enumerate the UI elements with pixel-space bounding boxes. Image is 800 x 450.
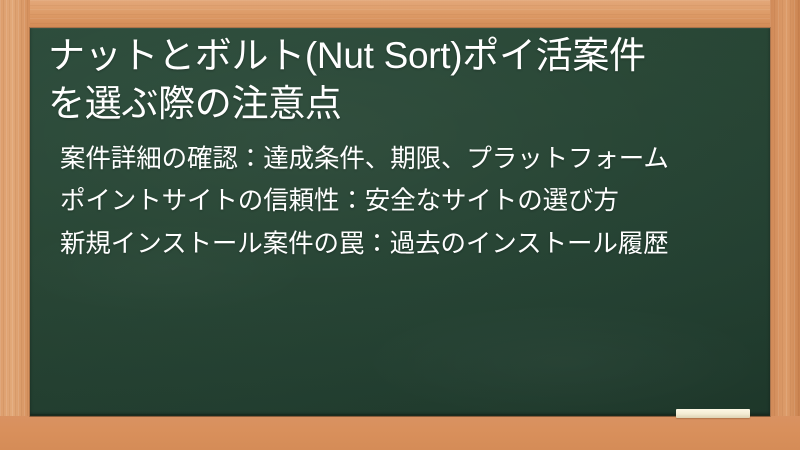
list-item: 新規インストール案件の罠：過去のインストール履歴	[48, 227, 746, 262]
frame-right-rail	[770, 0, 800, 450]
chalkboard-content: ナットとボルト(Nut Sort)ポイ活案件 を選ぶ際の注意点 案件詳細の確認：…	[30, 28, 770, 262]
blackboard-slide: ナットとボルト(Nut Sort)ポイ活案件 を選ぶ際の注意点 案件詳細の確認：…	[0, 0, 800, 450]
chalkboard: ナットとボルト(Nut Sort)ポイ活案件 を選ぶ際の注意点 案件詳細の確認：…	[30, 28, 770, 416]
list-item: 案件詳細の確認：達成条件、期限、プラットフォーム	[48, 142, 746, 177]
slide-title: ナットとボルト(Nut Sort)ポイ活案件 を選ぶ際の注意点	[48, 32, 746, 128]
chalkboard-bottom-shadow	[30, 414, 770, 417]
bullet-list: 案件詳細の確認：達成条件、期限、プラットフォーム ポイントサイトの信頼性：安全な…	[48, 142, 746, 262]
frame-bottom-rail	[0, 416, 800, 450]
list-item: ポイントサイトの信頼性：安全なサイトの選び方	[48, 184, 746, 219]
frame-top-rail	[0, 0, 800, 28]
chalk-stick-icon	[676, 409, 750, 418]
frame-left-rail	[0, 0, 30, 450]
